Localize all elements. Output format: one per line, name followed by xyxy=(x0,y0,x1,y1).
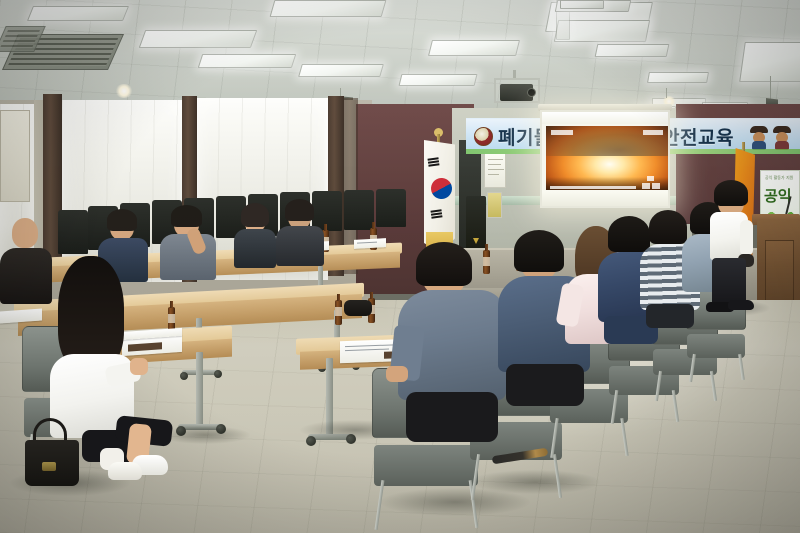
presenter-person xyxy=(704,180,758,314)
person-leg xyxy=(506,364,584,406)
person-hand xyxy=(130,358,148,375)
mascot-character-icon xyxy=(773,126,791,150)
presenter-arm xyxy=(740,220,753,256)
placard-subtitle: 공익 활동가 지원 xyxy=(765,175,793,181)
projected-video-content xyxy=(546,126,668,192)
presenter-shoe xyxy=(728,300,754,310)
attendee-person xyxy=(160,208,218,280)
flag-trigram-icon xyxy=(427,157,439,166)
ceiling-lamp xyxy=(399,74,478,86)
person-torso xyxy=(276,226,324,266)
person-torso xyxy=(160,234,216,280)
chair-leg xyxy=(738,354,745,380)
table-caster xyxy=(214,370,222,378)
chair-leg xyxy=(655,371,662,401)
person-hair xyxy=(416,242,472,286)
person-torso xyxy=(234,229,276,268)
person-shoe xyxy=(108,462,142,480)
attendee-person xyxy=(276,202,326,266)
ceiling-lamp xyxy=(428,40,520,56)
person-hair xyxy=(171,205,202,227)
screen-top-margin xyxy=(542,112,668,124)
empty-chair[interactable] xyxy=(344,190,374,230)
ceiling-lamp xyxy=(27,6,129,21)
person-hair xyxy=(241,203,269,227)
ceiling-lamp xyxy=(298,64,384,77)
empty-chair[interactable] xyxy=(58,210,88,254)
drink-bottle[interactable] xyxy=(335,300,342,325)
person-hair xyxy=(107,209,137,231)
video-overlay-label xyxy=(643,130,663,135)
video-control-icon[interactable] xyxy=(652,183,660,189)
chair-leg xyxy=(550,418,559,458)
podium-front-panel xyxy=(765,240,794,302)
projector-lens-icon xyxy=(527,88,536,97)
video-control-icon[interactable] xyxy=(642,183,650,189)
table-caster xyxy=(180,372,188,380)
person-hand xyxy=(386,366,408,382)
chair-leg xyxy=(553,454,562,498)
handout-document[interactable] xyxy=(354,238,386,249)
presenter-hair xyxy=(714,180,748,206)
wall-notice-board xyxy=(0,110,30,202)
ceiling-lamp xyxy=(270,0,387,17)
ceiling-lamp xyxy=(595,44,670,57)
attendee-person xyxy=(234,206,278,268)
person-head xyxy=(12,218,38,248)
object-shadow xyxy=(160,426,250,444)
person-leg xyxy=(646,304,694,328)
ceiling-lamp xyxy=(139,30,258,48)
handbag-clasp-icon xyxy=(42,462,56,471)
person-hair xyxy=(514,230,564,272)
presenter-trousers xyxy=(712,258,746,306)
table-caster xyxy=(306,436,316,446)
banner-right-text: 안전교육 xyxy=(662,123,734,150)
wall-notice-sheet xyxy=(484,152,506,188)
ceiling-lamp xyxy=(198,54,297,68)
bag-on-chair[interactable] xyxy=(344,300,372,316)
flag-trigram-icon xyxy=(430,209,442,218)
empty-chair[interactable] xyxy=(376,189,406,227)
seminar-room-photo: 폐기물 안전교육 xyxy=(0,0,800,533)
person-leg xyxy=(406,392,498,442)
ceiling-lamp xyxy=(647,72,709,83)
chair-leg xyxy=(375,480,385,530)
person-hair xyxy=(58,256,124,370)
person-hair xyxy=(285,199,314,221)
table-leg xyxy=(196,352,203,428)
ceiling-hanging-wire xyxy=(770,76,771,100)
wall-notice-sheet xyxy=(487,192,502,218)
government-emblem-icon xyxy=(474,127,493,146)
video-control-icon[interactable] xyxy=(647,176,654,181)
ceiling-hanging-wire xyxy=(666,88,667,98)
ceiling-downlight xyxy=(115,84,133,98)
video-progress-bar[interactable] xyxy=(550,186,636,189)
video-overlay-label xyxy=(551,130,573,135)
chair-leg xyxy=(471,454,480,500)
screen-bottom-margin xyxy=(542,190,668,206)
chair-leg xyxy=(611,390,619,424)
chair-seat xyxy=(374,445,478,487)
ceiling-lamp xyxy=(560,0,604,9)
mascot-character-icon xyxy=(750,126,768,150)
projection-screen xyxy=(540,110,670,208)
chair-leg xyxy=(689,354,696,382)
